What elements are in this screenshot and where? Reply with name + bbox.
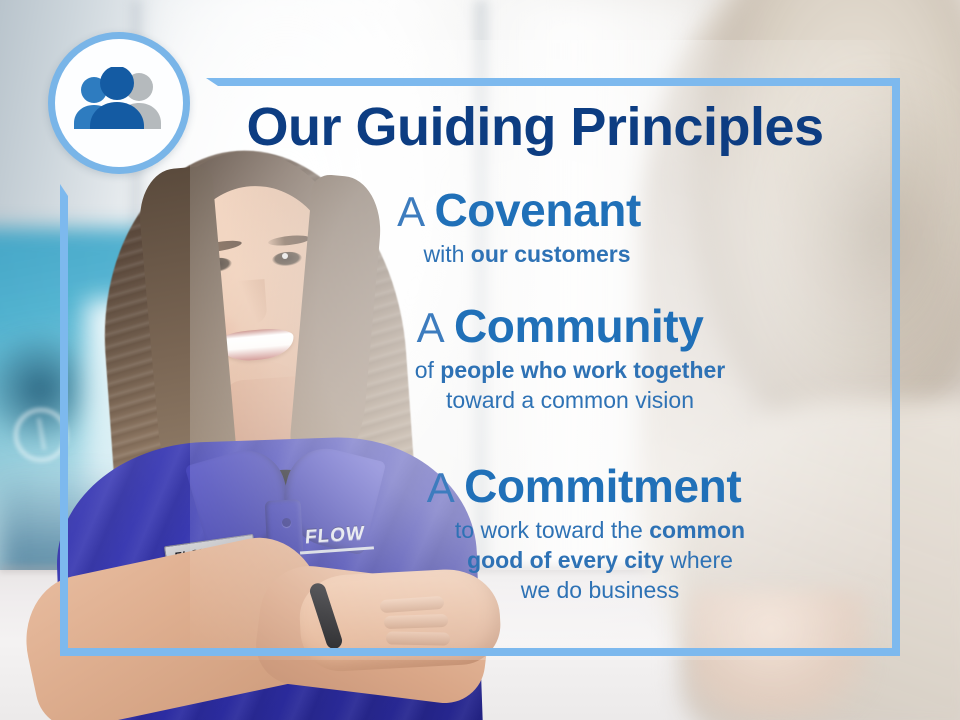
subtext-segment: of — [415, 357, 441, 383]
subtext-segment-bold: common — [649, 517, 745, 543]
principle-keyword: Covenant — [434, 184, 640, 236]
principle-lead: A — [397, 188, 434, 235]
subtext-segment-bold: our customers — [471, 241, 631, 267]
principle-heading: A Community — [160, 302, 860, 350]
principle-keyword: Community — [454, 300, 703, 352]
principle-subtext-line: toward a common vision — [280, 386, 860, 416]
frame-border-bottom — [60, 648, 900, 656]
subtext-segment: we do business — [521, 577, 680, 603]
principle-community: A Community of people who work together … — [160, 302, 860, 416]
people-group-icon — [67, 67, 171, 139]
subtext-segment: to work toward the — [455, 517, 649, 543]
principle-subtext: to work toward the common good of every … — [160, 516, 860, 606]
principle-commitment: A Commitment to work toward the common g… — [160, 462, 860, 606]
employee-finger — [386, 631, 450, 645]
frame-border-right — [892, 78, 900, 656]
subtext-segment-bold: people who work together — [440, 357, 725, 383]
principle-subtext-line: good of every city where — [340, 546, 860, 576]
principle-subtext-line: to work toward the common — [340, 516, 860, 546]
principle-covenant: A Covenant with our customers — [160, 186, 860, 270]
principle-lead: A — [417, 304, 454, 351]
principle-subtext-line: of people who work together — [280, 356, 860, 386]
principle-lead: A — [427, 464, 464, 511]
principle-heading: A Covenant — [160, 186, 860, 234]
principle-keyword: Commitment — [464, 460, 741, 512]
subtext-segment: where — [664, 547, 733, 573]
principle-subtext: of people who work together toward a com… — [160, 356, 860, 416]
principle-heading: A Commitment — [160, 462, 860, 510]
subtext-segment: toward a common vision — [446, 387, 694, 413]
employee-finger — [384, 614, 448, 629]
principle-subtext-line: with our customers — [194, 240, 860, 270]
subtext-segment: with — [423, 241, 470, 267]
principle-subtext-line: we do business — [340, 576, 860, 606]
page-title: Our Guiding Principles — [205, 99, 865, 156]
people-icon-badge — [48, 32, 190, 174]
principle-subtext: with our customers — [160, 240, 860, 270]
guiding-principles-graphic: FLOW FLOW AUTOMOTIVE — [0, 0, 960, 720]
frame-border-top — [218, 78, 900, 86]
frame-border-left — [60, 196, 68, 656]
subtext-segment-bold: good of every city — [467, 547, 664, 573]
